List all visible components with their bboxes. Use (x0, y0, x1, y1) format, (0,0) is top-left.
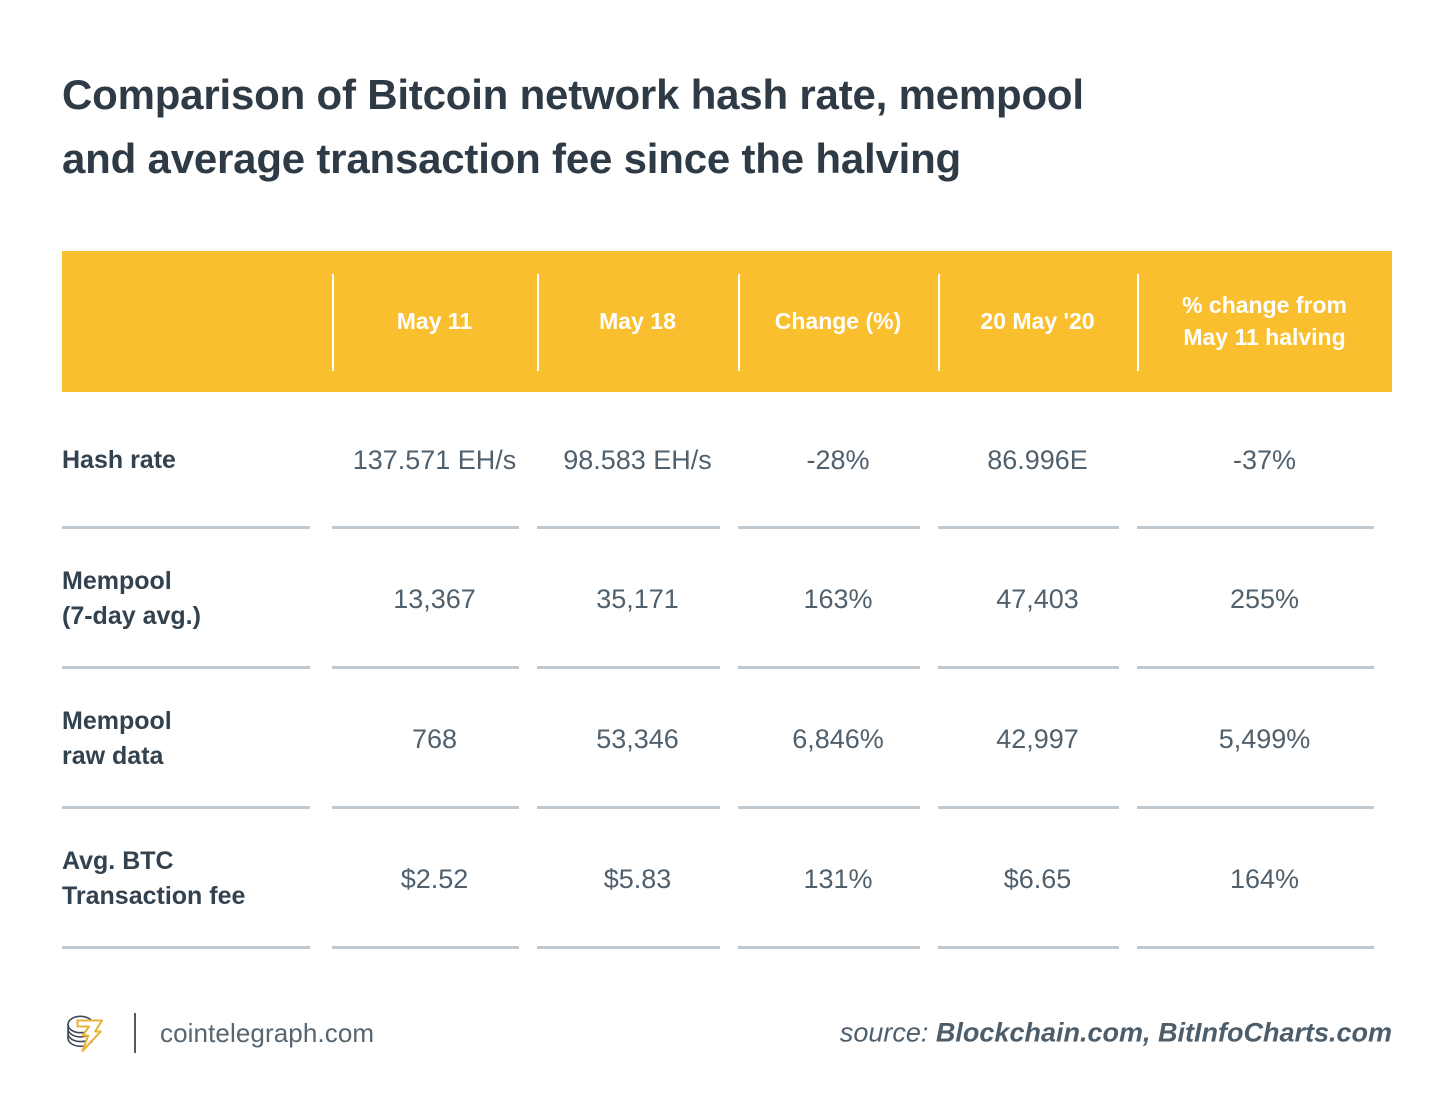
cell-mempool-7day-avg-may-11: 13,367 (332, 529, 537, 669)
footer: cointelegraph.com source: Blockchain.com… (62, 1002, 1392, 1064)
header-divider-icon (738, 274, 740, 371)
row-label-hash-rate: Hash rate (62, 392, 332, 529)
page-title: Comparison of Bitcoin network hash rate,… (62, 63, 1352, 191)
page-title-line-2: and average transaction fee since the ha… (62, 127, 1352, 191)
brand-block: cointelegraph.com (62, 1002, 374, 1064)
cell-avg-btc-transaction-fee-change: 131% (738, 809, 938, 949)
table-header-metric (62, 251, 332, 392)
cell-mempool-7day-avg-may-20: 47,403 (938, 529, 1137, 669)
table-header-row: May 11 May 18 Change (%) 20 May '20 % ch… (62, 251, 1392, 392)
cell-avg-btc-transaction-fee-pct-from-halving: 164% (1137, 809, 1392, 949)
page-title-line-1: Comparison of Bitcoin network hash rate,… (62, 63, 1352, 127)
table-header-pct-from-halving: % change from May 11 halving (1137, 251, 1392, 392)
comparison-table: May 11 May 18 Change (%) 20 May '20 % ch… (62, 251, 1392, 949)
row-label-line-2: (7-day avg.) (62, 599, 201, 635)
source-attribution: source: Blockchain.com, BitInfoCharts.co… (840, 1018, 1392, 1049)
row-rule (62, 946, 310, 949)
header-divider-icon (537, 274, 539, 371)
cell-hash-rate-may-20: 86.996E (938, 392, 1137, 529)
header-divider-icon (938, 274, 940, 371)
row-rule (332, 946, 519, 949)
cell-hash-rate-may-11: 137.571 EH/s (332, 392, 537, 529)
row-label-line-1: Hash rate (62, 443, 176, 479)
table-row: Mempool (7-day avg.) 13,367 35,171 163% (62, 529, 1392, 669)
header-divider-icon (332, 274, 334, 371)
table-header-may-20-label: 20 May '20 (980, 306, 1094, 337)
row-label-line-1: Avg. BTC (62, 844, 245, 880)
cell-mempool-raw-data-may-20: 42,997 (938, 669, 1137, 809)
cell-hash-rate-change: -28% (738, 392, 938, 529)
table-header-change: Change (%) (738, 251, 938, 392)
cell-avg-btc-transaction-fee-may-11: $2.52 (332, 809, 537, 949)
row-rule (938, 946, 1119, 949)
cell-mempool-7day-avg-may-18: 35,171 (537, 529, 738, 669)
table-header-may-18-label: May 18 (599, 306, 676, 337)
cell-hash-rate-pct-from-halving: -37% (1137, 392, 1392, 529)
cell-mempool-7day-avg-pct-from-halving: 255% (1137, 529, 1392, 669)
table-header-change-label: Change (%) (775, 306, 902, 337)
brand-site-label: cointelegraph.com (160, 1018, 374, 1049)
row-label-avg-btc-transaction-fee: Avg. BTC Transaction fee (62, 809, 332, 949)
source-label: source: (840, 1018, 929, 1048)
row-label-line-2: raw data (62, 739, 172, 775)
table-header-may-11-label: May 11 (397, 306, 472, 337)
row-rule (537, 946, 720, 949)
cointelegraph-logo-icon (62, 1010, 108, 1056)
table-header-may-20: 20 May '20 (938, 251, 1137, 392)
row-rule (738, 946, 920, 949)
header-divider-icon (1137, 274, 1139, 371)
cell-mempool-raw-data-change: 6,846% (738, 669, 938, 809)
cell-avg-btc-transaction-fee-may-20: $6.65 (938, 809, 1137, 949)
row-label-line-1: Mempool (62, 564, 201, 600)
cell-mempool-raw-data-may-18: 53,346 (537, 669, 738, 809)
table-header-may-11: May 11 (332, 251, 537, 392)
cell-mempool-raw-data-may-11: 768 (332, 669, 537, 809)
row-label-line-2: Transaction fee (62, 879, 245, 915)
infographic-root: Comparison of Bitcoin network hash rate,… (0, 0, 1450, 1116)
table-row: Hash rate 137.571 EH/s 98.583 EH/s -28% (62, 392, 1392, 529)
row-label-line-1: Mempool (62, 704, 172, 740)
cell-hash-rate-may-18: 98.583 EH/s (537, 392, 738, 529)
table-header-may-18: May 18 (537, 251, 738, 392)
cell-mempool-raw-data-pct-from-halving: 5,499% (1137, 669, 1392, 809)
cell-avg-btc-transaction-fee-may-18: $5.83 (537, 809, 738, 949)
table-row: Avg. BTC Transaction fee $2.52 $5.83 131… (62, 809, 1392, 949)
cell-mempool-7day-avg-change: 163% (738, 529, 938, 669)
brand-divider-icon (134, 1013, 136, 1053)
table-body: Hash rate 137.571 EH/s 98.583 EH/s -28% (62, 392, 1392, 949)
table-header-pct-from-halving-label: % change from May 11 halving (1182, 290, 1347, 352)
table-row: Mempool raw data 768 53,346 6,846% (62, 669, 1392, 809)
row-label-mempool-7day-avg: Mempool (7-day avg.) (62, 529, 332, 669)
row-label-mempool-raw-data: Mempool raw data (62, 669, 332, 809)
source-value: Blockchain.com, BitInfoCharts.com (936, 1018, 1392, 1048)
row-rule (1137, 946, 1374, 949)
